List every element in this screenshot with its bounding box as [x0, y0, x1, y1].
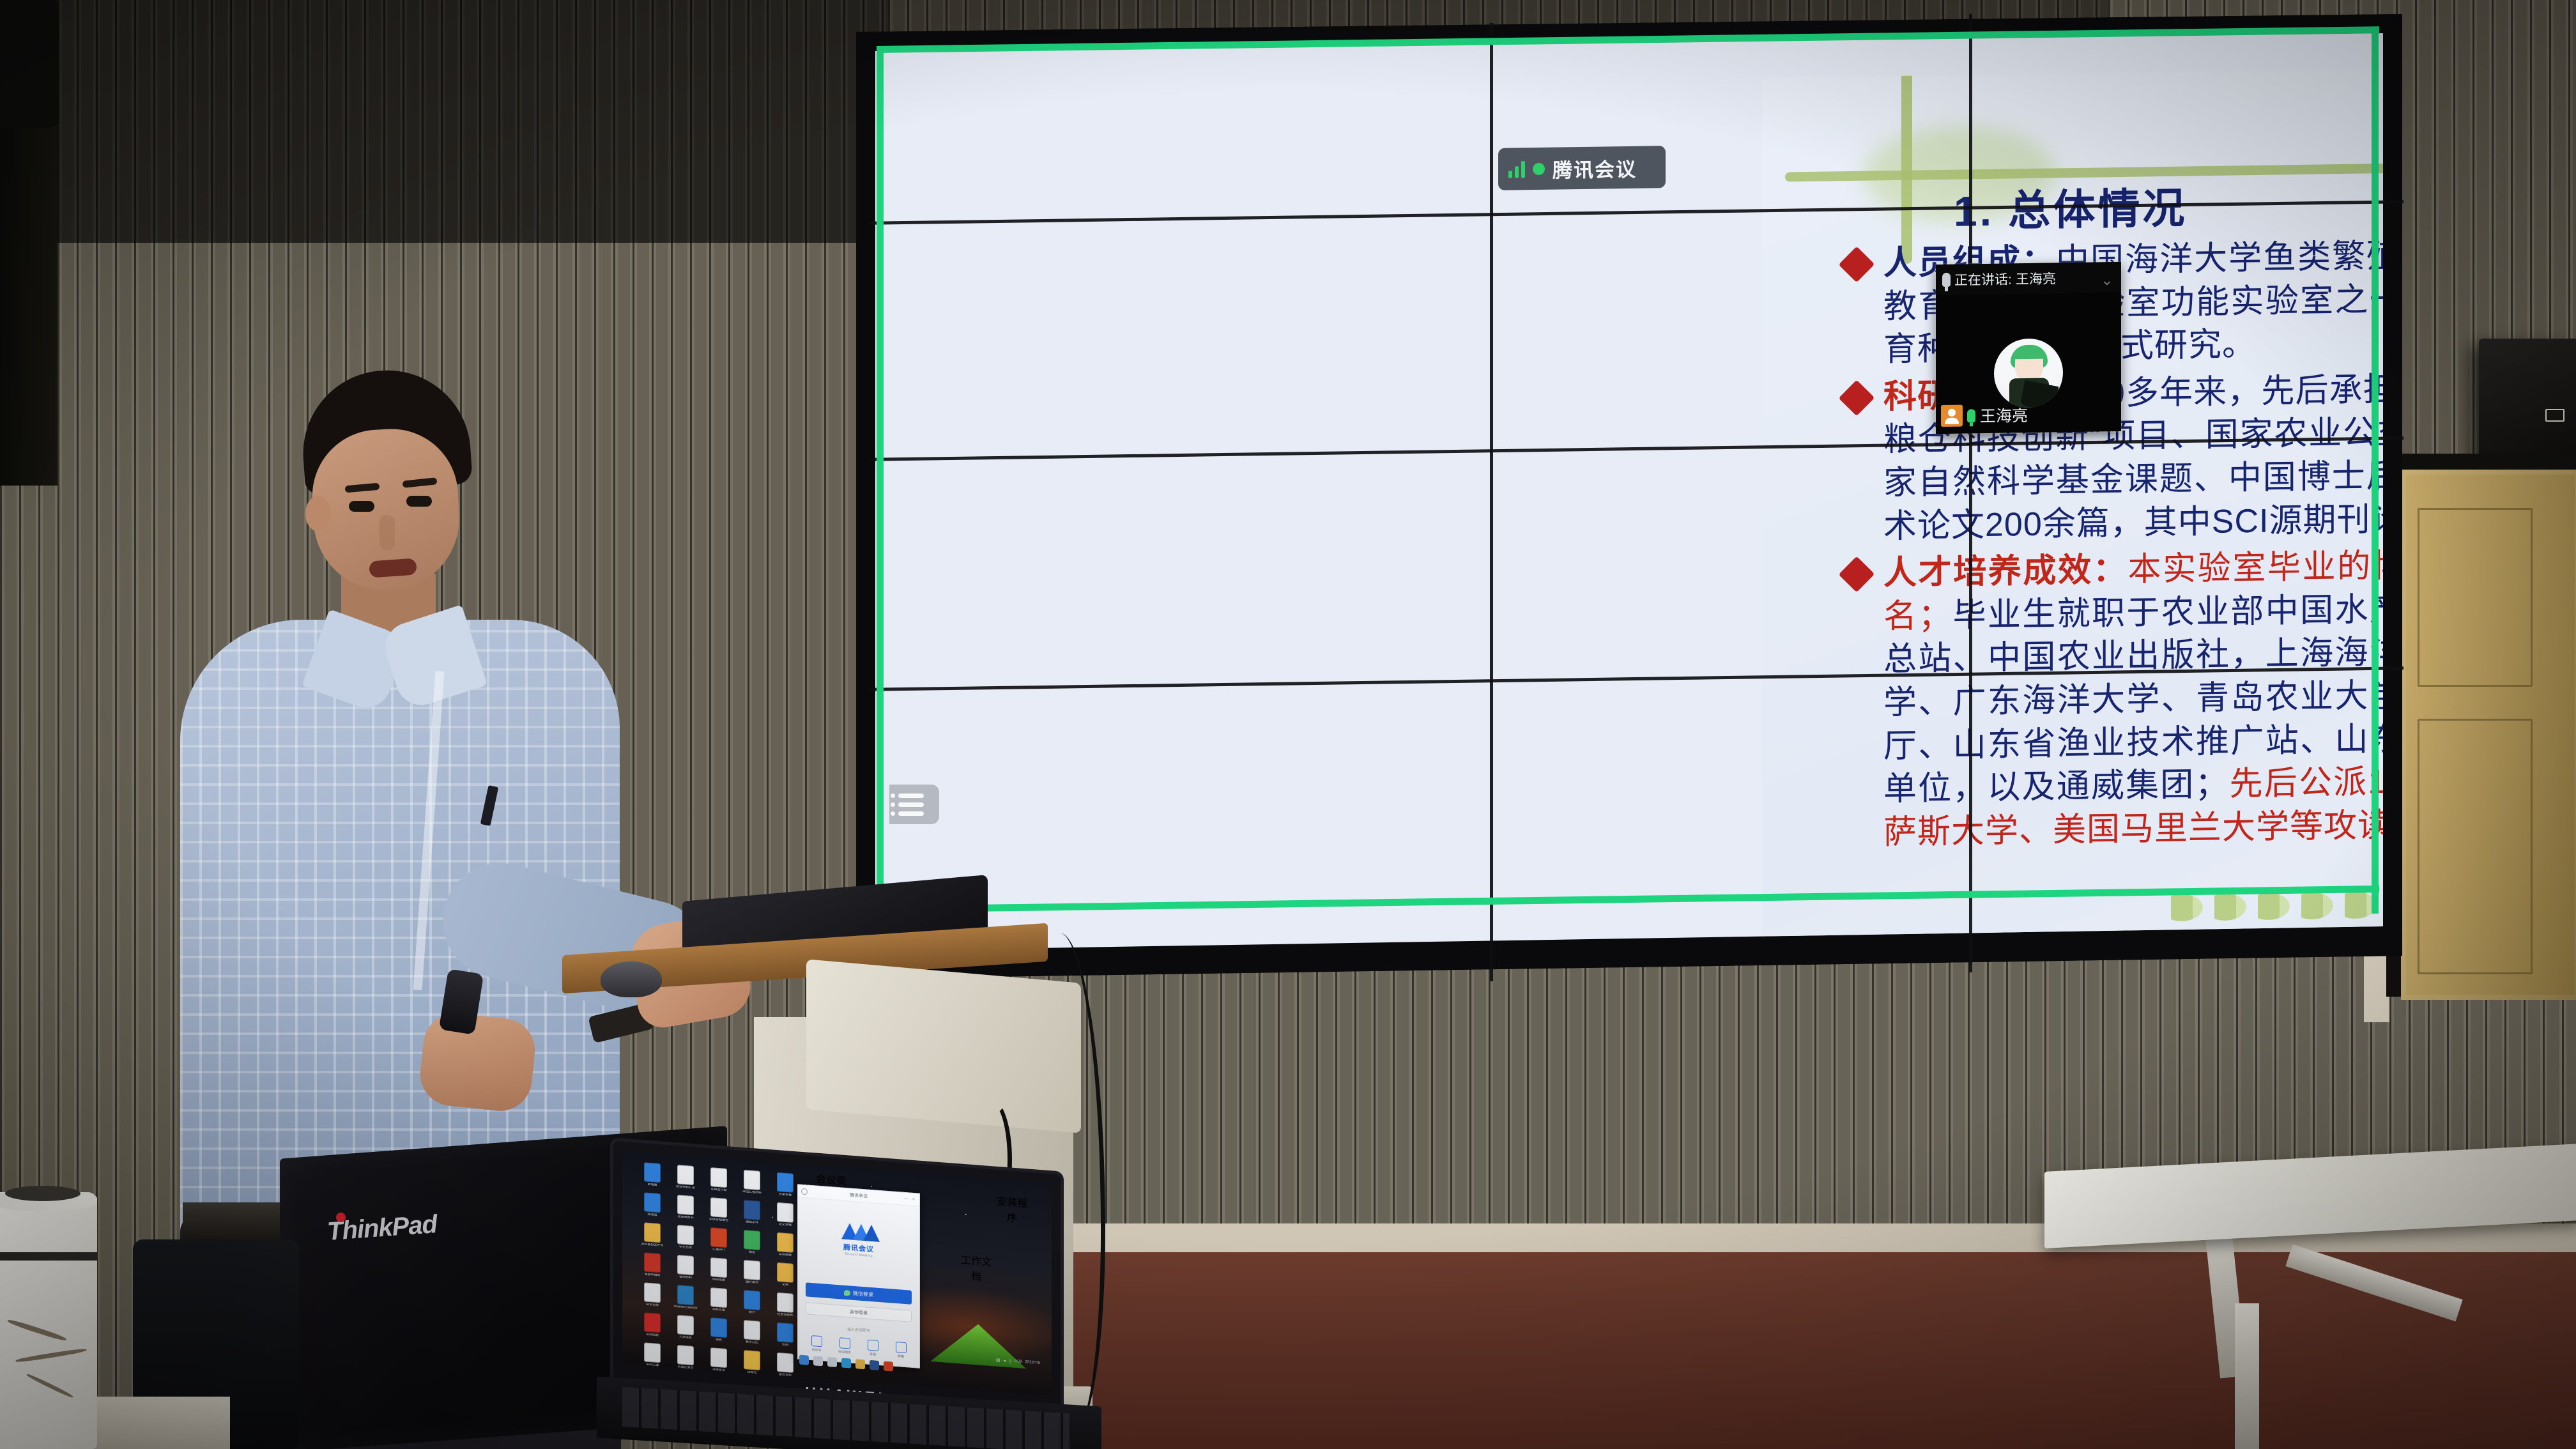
desktop-icon-glyph	[744, 1290, 760, 1310]
desktop-icon-label: 项目申报书	[670, 1215, 701, 1224]
desktop-icon-glyph	[644, 1162, 661, 1183]
window-title: 腾讯会议	[850, 1192, 868, 1199]
desktop-icon-label: 备份资料	[769, 1372, 801, 1382]
wechat-login-label: 微信登录	[853, 1289, 873, 1298]
video-wall-seam	[1969, 14, 1972, 972]
participant-tile-header: 正在讲话: 王海亮 ⌄	[1936, 262, 2121, 295]
desktop-icon-glyph	[710, 1317, 727, 1338]
ceiling-speaker-icon	[0, 0, 59, 128]
desktop-icon-label: 会议材料汇总	[670, 1184, 701, 1194]
desktop-icon-label: Internet Explorer	[670, 1305, 701, 1314]
desktop-icon-glyph	[677, 1255, 694, 1275]
desktop-icon[interactable]: 回收站	[636, 1192, 668, 1222]
desktop-icon-label: 资料汇编	[636, 1362, 668, 1372]
desktop-icon-label: 培养方案	[703, 1307, 735, 1317]
cartoon-avatar-icon	[1994, 338, 2063, 408]
desktop-icon[interactable]: 评估汇报材料	[736, 1169, 768, 1199]
desktop-icon[interactable]: 经费预算表	[769, 1292, 801, 1322]
desktop-icon-glyph	[777, 1262, 793, 1283]
more-options-icon[interactable]: ⌄	[2101, 271, 2113, 289]
desktop-icon[interactable]: 科研成果	[703, 1257, 735, 1287]
door-panel-lower	[2418, 719, 2533, 974]
desktop-icon[interactable]: 项目申报书	[670, 1194, 701, 1224]
door-icon[interactable]	[2401, 470, 2576, 1000]
desktop-icon-label: 年度总结报告	[703, 1217, 735, 1227]
desktop-icon[interactable]: 此电脑	[636, 1161, 668, 1192]
tencent-meeting-badge-label: 腾讯会议	[1552, 153, 1637, 183]
bullet-lead: 人才培养成效：	[1883, 551, 2127, 592]
desktop-icon-label: 汇报PPT	[703, 1247, 735, 1257]
desktop-icon-label: 名单表格	[769, 1192, 801, 1202]
desktop-icon-glyph	[677, 1195, 694, 1215]
vase-opening	[5, 1186, 80, 1201]
desktop-icon-label: 文档	[769, 1282, 801, 1292]
presenter-nose	[379, 515, 395, 551]
clock-time[interactable]: 9:28	[1015, 1360, 1022, 1364]
quick-tool-button[interactable]: 邮箱	[890, 1341, 912, 1360]
presenter-eye	[349, 501, 374, 512]
presentation-slide: 1. 总体情况 一、实验室概述 人员组成：中国海洋大学鱼类繁殖生理与种子工程实验…	[1762, 57, 2383, 958]
desktop-icon-glyph	[710, 1287, 727, 1308]
desktop-icon-label: 回收站	[636, 1212, 668, 1222]
desktop-icon[interactable]: 资料备份文件夹	[636, 1222, 668, 1252]
desktop-icon-label: 课题申请表	[636, 1272, 668, 1282]
battery-icon[interactable]: ▯	[1009, 1358, 1011, 1363]
desktop-icon-label: 统计	[736, 1310, 768, 1319]
desktop-icon[interactable]: 微信	[736, 1229, 768, 1259]
microphone-icon	[1967, 409, 1975, 422]
other-login-button[interactable]: 其他登录	[806, 1302, 912, 1322]
video-wall-seam	[1490, 23, 1493, 981]
clock-date[interactable]: 2022/7/5	[1025, 1360, 1040, 1365]
desktop-icon-label: 微信	[736, 1250, 768, 1259]
desktop-icon[interactable]: 会议材料汇总	[670, 1164, 701, 1194]
quick-tool-button[interactable]: 会议助手	[834, 1337, 855, 1356]
search-icon[interactable]	[813, 1356, 823, 1366]
word-icon[interactable]	[870, 1360, 879, 1370]
desktop-icon-label: 实验记录本	[670, 1365, 701, 1374]
desktop-icon-glyph	[644, 1312, 661, 1333]
desktop-icon-glyph	[710, 1167, 727, 1188]
computer-mouse-icon[interactable]	[601, 962, 662, 997]
document-icon	[868, 1340, 878, 1351]
desktop-icon-label: 实验室介绍	[703, 1187, 735, 1197]
desktop-icon-glyph	[777, 1292, 793, 1313]
window-controls[interactable]: — ×	[904, 1197, 916, 1202]
slide-bullet-item: 人才培养成效：本实验室毕业的博士和硕士研究生100余名，在读博士和硕士研究生40…	[1844, 533, 2383, 855]
desktop-icon[interactable]: 实验数据	[769, 1232, 801, 1262]
list-menu-icon[interactable]	[889, 785, 939, 824]
network-icon[interactable]: ▤	[996, 1358, 1000, 1363]
huawei-laptop[interactable]: 此电脑会议材料汇总实验室介绍评估汇报材料名单表格回收站项目申报书年度总结报告通知…	[613, 1158, 1099, 1449]
desktop-icon-glyph	[644, 1222, 661, 1243]
desktop-icon-label: 实验数据	[769, 1252, 801, 1262]
desktop-icon-label: 安装程序	[995, 1193, 1029, 1226]
desktop-icon[interactable]: 学生名册	[670, 1224, 701, 1254]
door-panel-upper	[2418, 508, 2533, 687]
desktop-icon[interactable]: 通知文件	[736, 1199, 768, 1229]
presenter-left-hand	[417, 1010, 538, 1114]
desktop-icon-glyph	[644, 1192, 661, 1213]
wechat-icon	[844, 1289, 850, 1296]
red-diamond-bullet-icon	[1839, 556, 1875, 593]
desktop-icon-label: 答辩材料	[670, 1275, 701, 1284]
presenter-eye	[406, 496, 432, 507]
desktop-icon[interactable]: 统计	[736, 1289, 768, 1319]
tencent-meeting-badge[interactable]: 腾讯会议	[1498, 146, 1666, 190]
desktop-icon[interactable]: 安装程序	[995, 1193, 1029, 1226]
start-icon[interactable]	[799, 1354, 809, 1365]
desktop-icon[interactable]: 教学日历	[736, 1319, 768, 1349]
quick-tool-button[interactable]: 会议中	[806, 1335, 827, 1353]
join-meeting-hint: 加入会议即可	[847, 1326, 870, 1333]
conference-room-scene: 1. 总体情况 一、实验室概述 人员组成：中国海洋大学鱼类繁殖生理与种子工程实验…	[0, 0, 2576, 1449]
desktop-icon-glyph	[677, 1225, 694, 1245]
recording-status-dot	[1533, 162, 1545, 174]
desktop-icon-label: 会议记录	[636, 1302, 668, 1312]
desktop-icon[interactable]: Internet Explorer	[670, 1284, 701, 1314]
desktop-icon-glyph	[744, 1200, 760, 1220]
volume-icon[interactable]: ◂	[1004, 1358, 1006, 1363]
slide-vine-vertical	[1901, 72, 1912, 264]
desktop-icon[interactable]: 人员信息	[670, 1314, 701, 1344]
desktop-icon-label: 评估汇报材料	[736, 1190, 768, 1199]
vase-rim-band	[0, 1252, 97, 1261]
desktop-icon[interactable]: 论文草稿	[769, 1202, 801, 1232]
desktop-icon-label: 图片素材	[736, 1280, 768, 1289]
participant-name-label: 王海亮	[1980, 403, 2028, 427]
settings-gear-icon[interactable]	[801, 1188, 808, 1195]
desktop-icon[interactable]: 图片素材	[736, 1259, 768, 1289]
speaking-participant-name: 王海亮	[2016, 268, 2056, 288]
wechat-login-button[interactable]: 微信登录	[806, 1282, 912, 1304]
desktop-icon[interactable]: 报表	[703, 1317, 735, 1347]
edge-icon[interactable]	[841, 1358, 851, 1368]
signal-bars-icon	[1508, 160, 1525, 178]
desktop-icon-glyph	[744, 1170, 760, 1190]
phone-icon	[811, 1335, 822, 1347]
desktop-icon-label: 压缩包	[736, 1370, 768, 1379]
desktop-icon-glyph	[677, 1165, 694, 1185]
desktop-icon[interactable]: 会议记录	[636, 1282, 668, 1312]
desktop-icon[interactable]: 培养方案	[703, 1287, 735, 1317]
presenter-mouth	[369, 558, 417, 578]
participant-tile-footer: 王海亮	[1941, 403, 2028, 427]
presenter-ear	[305, 496, 331, 532]
desktop-icon-label: 工作文档	[960, 1251, 993, 1284]
table-leg	[2235, 1303, 2259, 1449]
desktop-icon-glyph	[744, 1230, 760, 1250]
wall-speaker-icon	[2479, 339, 2576, 473]
desktop-icon[interactable]: 知网	[769, 1322, 801, 1352]
microphone-icon	[1942, 273, 1951, 287]
desktop-icon[interactable]: 年度总结报告	[703, 1197, 735, 1227]
speaking-indicator-label: 正在讲话:	[1954, 269, 2012, 289]
desktop-icon[interactable]: 课题申请表	[636, 1252, 668, 1282]
desktop-icon-glyph	[710, 1227, 727, 1248]
search-meeting-icon	[839, 1337, 850, 1349]
desktop-icon[interactable]: 汇报PPT	[703, 1227, 735, 1257]
desktop-icon[interactable]: 名单表格	[769, 1172, 801, 1202]
desktop-icon-label: 此电脑	[636, 1182, 668, 1192]
desktop-icon[interactable]: 工作文档	[960, 1251, 993, 1284]
desktop-icon-label: 学生名册	[670, 1245, 701, 1254]
desktop-icon-label: 评审意见	[703, 1367, 735, 1377]
desktop-icon-glyph	[777, 1202, 793, 1223]
task-view-icon[interactable]	[827, 1356, 837, 1367]
desktop-icon[interactable]: 文档	[769, 1262, 801, 1292]
tencent-meeting-icon[interactable]	[884, 1361, 893, 1371]
desktop-icon-glyph	[710, 1197, 727, 1218]
desktop-icon-label: 经费预算表	[769, 1312, 801, 1322]
desktop-icon[interactable]: 项目结题	[636, 1312, 668, 1342]
desktop-icon-glyph	[777, 1322, 793, 1343]
huawei-screen[interactable]: 此电脑会议材料汇总实验室介绍评估汇报材料名单表格回收站项目申报书年度总结报告通知…	[622, 1151, 1052, 1397]
desktop-icon-label: 资料备份文件夹	[636, 1242, 668, 1252]
desktop-icon-label: 论文草稿	[769, 1222, 801, 1232]
desktop-icon-glyph	[644, 1282, 661, 1303]
desktop-icon[interactable]: 实验室介绍	[703, 1167, 735, 1197]
desktop-icon-label: 通知文件	[736, 1220, 768, 1229]
desktop-icon-glyph	[777, 1172, 793, 1193]
tencent-meeting-window[interactable]: 腾讯会议 — × 腾讯会议 Tencent Meeting 微信登录	[797, 1184, 920, 1368]
other-login-label: 其他登录	[850, 1308, 868, 1316]
desktop-icon-glyph	[677, 1285, 694, 1305]
desktop-icon-glyph	[677, 1315, 694, 1335]
desktop-icon-label: 科研成果	[703, 1277, 735, 1287]
desktop-icon[interactable]: 答辩材料	[670, 1254, 701, 1284]
mail-icon	[896, 1342, 907, 1353]
explorer-icon[interactable]	[855, 1359, 865, 1369]
red-diamond-bullet-icon	[1839, 247, 1875, 283]
host-person-icon	[1941, 405, 1963, 427]
participant-video-tile[interactable]: 正在讲话: 王海亮 ⌄ 王海亮	[1936, 262, 2121, 434]
desktop-icon-glyph	[744, 1320, 760, 1340]
desktop-icon-glyph	[710, 1257, 727, 1278]
red-diamond-bullet-icon	[1839, 379, 1875, 416]
desktop-icon-glyph	[777, 1232, 793, 1253]
window-body: 腾讯会议 Tencent Meeting 微信登录 其他登录 加入会议即可 会议…	[798, 1197, 919, 1367]
desktop-icon-glyph	[744, 1260, 760, 1280]
tencent-meeting-logo-icon	[841, 1220, 876, 1242]
desktop-icon-glyph	[644, 1252, 661, 1273]
quick-tool-button[interactable]: 文档	[862, 1339, 884, 1358]
